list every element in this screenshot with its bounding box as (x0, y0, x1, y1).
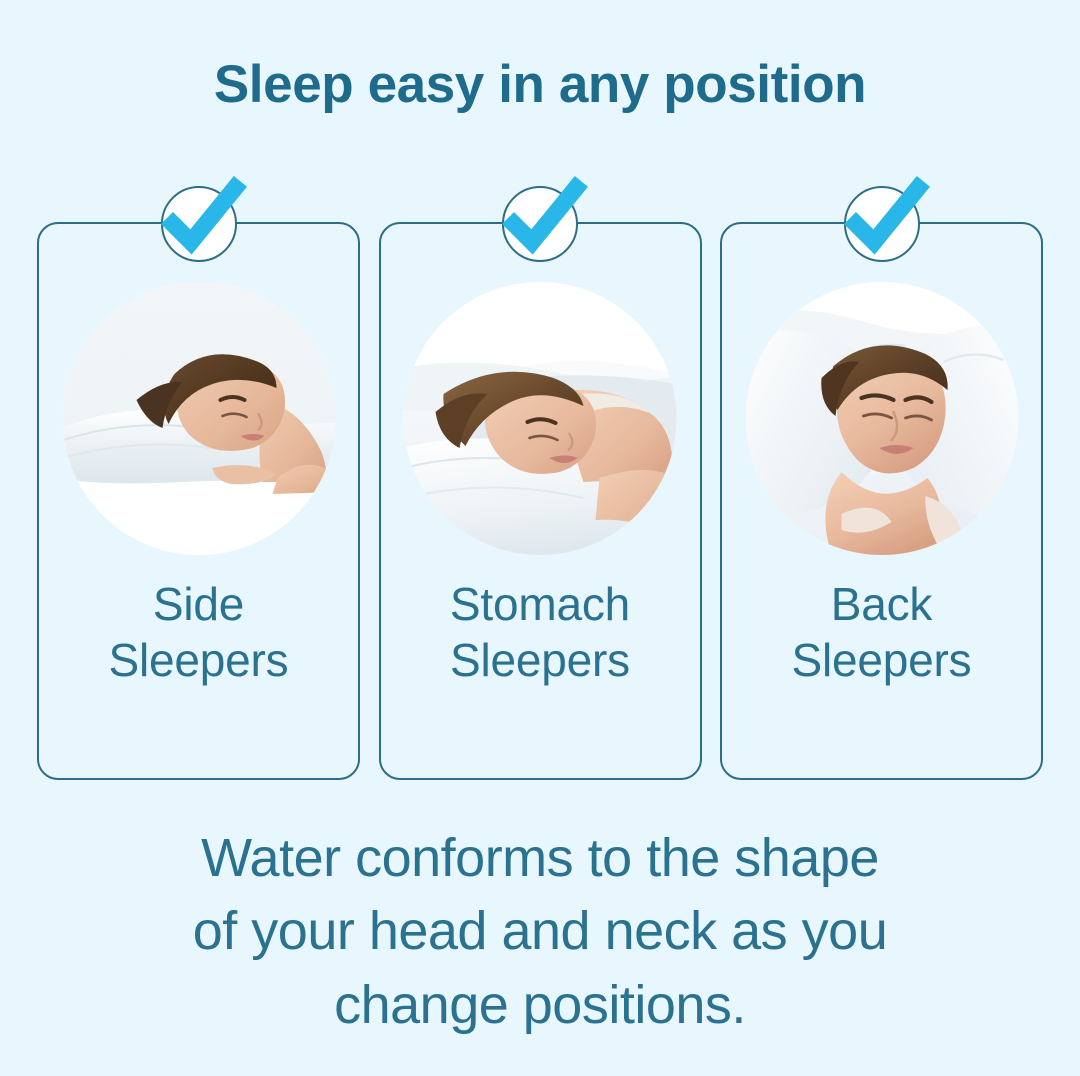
sleeper-card-stomach[interactable]: Stomach Sleepers (379, 222, 702, 780)
stomach-sleeper-photo (404, 282, 677, 555)
caption: Water conforms to the shape of your head… (0, 822, 1080, 1042)
back-sleeper-photo (745, 282, 1018, 555)
card-label-line1: Stomach (381, 576, 700, 632)
caption-line3: change positions. (0, 969, 1080, 1042)
card-label: Side Sleepers (39, 576, 358, 688)
caption-line1: Water conforms to the shape (0, 822, 1080, 895)
check-icon (494, 172, 594, 272)
badge-circle (161, 186, 237, 262)
card-label: Back Sleepers (722, 576, 1041, 688)
badge-circle (502, 186, 578, 262)
card-label-line2: Sleepers (722, 632, 1041, 688)
card-label: Stomach Sleepers (381, 576, 700, 688)
check-icon (153, 172, 253, 272)
card-label-line2: Sleepers (39, 632, 358, 688)
check-icon (836, 172, 936, 272)
sleeper-card-side[interactable]: Side Sleepers (37, 222, 360, 780)
card-label-line1: Side (39, 576, 358, 632)
badge-circle (844, 186, 920, 262)
sleeper-cards-row: Side Sleepers (37, 222, 1043, 780)
card-label-line1: Back (722, 576, 1041, 632)
card-label-line2: Sleepers (381, 632, 700, 688)
check-badge (844, 186, 920, 262)
check-badge (502, 186, 578, 262)
caption-line2: of your head and neck as you (0, 895, 1080, 968)
side-sleeper-photo (62, 282, 335, 555)
page-title: Sleep easy in any position (0, 56, 1080, 114)
check-badge (161, 186, 237, 262)
sleeper-card-back[interactable]: Back Sleepers (720, 222, 1043, 780)
